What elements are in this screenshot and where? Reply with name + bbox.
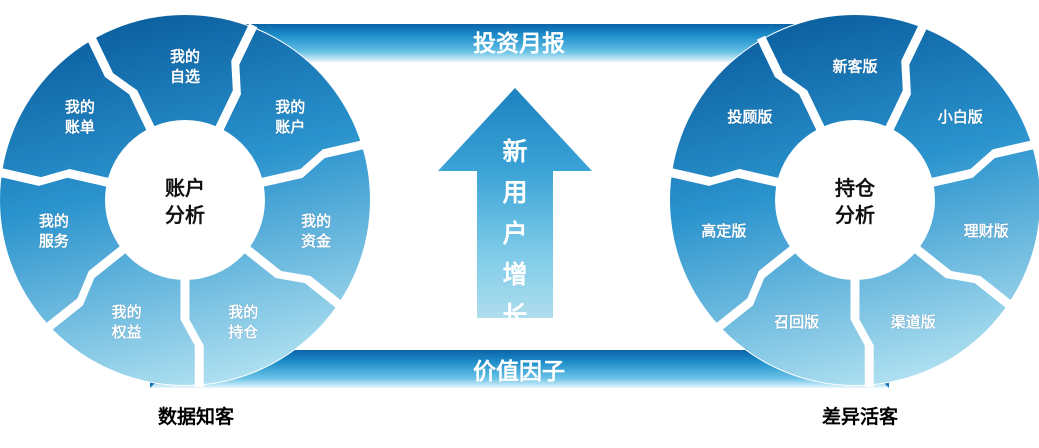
growth-arrow-char: 长: [502, 302, 528, 330]
segment-label-line1: 小白版: [938, 108, 983, 126]
segment-label-line2: 资金: [301, 232, 332, 250]
segment-label-line2: 账户: [275, 118, 305, 136]
growth-arrow-label: 新用户增长: [502, 137, 528, 330]
segment-label-line1: 我的: [228, 303, 258, 321]
segment-label-line2: 服务: [39, 232, 70, 250]
right-wheel-hub: [775, 120, 935, 280]
segment-label-line1: 新客版: [832, 58, 877, 76]
growth-arrow-char: 增: [502, 260, 527, 289]
segment-label-line2: 权益: [111, 323, 142, 341]
wheel-segment-premium-edition[interactable]: 高定版: [701, 222, 746, 240]
top-ribbon-label: 投资月报: [473, 30, 565, 56]
segment-label-line1: 我的: [275, 98, 305, 116]
segment-label-line1: 召回版: [774, 313, 819, 331]
segment-label-line1: 我的: [39, 212, 69, 230]
right-hub-line1: 持仓: [835, 176, 876, 200]
growth-strategy-diagram: 投资月报 价值因子 新用户增长 账户 分析 我的自选我的账户我的资金我的持仓我的…: [0, 0, 1039, 448]
segment-label-line2: 持仓: [228, 323, 259, 341]
wheel-segment-recall-edition[interactable]: 召回版: [774, 313, 819, 331]
segment-label-line1: 投顾版: [727, 108, 772, 126]
segment-label-line1: 渠道版: [891, 313, 936, 331]
left-hub-line1: 账户: [165, 176, 205, 200]
segment-label-line1: 我的: [301, 212, 331, 230]
growth-arrow-char: 户: [502, 219, 527, 248]
growth-arrow-char: 用: [502, 179, 527, 207]
left-hub-line2: 分析: [165, 204, 205, 227]
segment-label-line1: 我的: [170, 48, 200, 66]
account-analysis-wheel: 账户 分析 我的自选我的账户我的资金我的持仓我的权益我的服务我的账单: [0, 15, 370, 387]
wheel-segment-beginner-edition[interactable]: 小白版: [938, 108, 983, 126]
wheel-segment-new-customer-edition[interactable]: 新客版: [832, 58, 877, 76]
growth-arrow-char: 新: [502, 137, 527, 166]
wheel-segment-channel-edition[interactable]: 渠道版: [891, 313, 936, 331]
right-hub-line2: 分析: [835, 204, 875, 227]
segment-label-line2: 账单: [65, 118, 95, 136]
wheel-segment-wealth-edition[interactable]: 理财版: [964, 222, 1009, 240]
left-wheel-hub: [105, 120, 265, 280]
bottom-ribbon-label: 价值因子: [473, 358, 565, 384]
segment-label-line1: 我的: [65, 98, 95, 116]
diagram-canvas: 投资月报 价值因子 新用户增长 账户 分析 我的自选我的账户我的资金我的持仓我的…: [0, 0, 1039, 448]
segment-label-line2: 自选: [170, 68, 200, 86]
right-wheel-caption: 差异活客: [822, 405, 899, 428]
segment-label-line1: 高定版: [701, 222, 746, 240]
wheel-segment-advisory-edition[interactable]: 投顾版: [727, 108, 772, 126]
segment-label-line1: 理财版: [964, 222, 1009, 240]
segment-label-line1: 我的: [112, 303, 142, 321]
left-wheel-caption: 数据知客: [158, 405, 235, 428]
